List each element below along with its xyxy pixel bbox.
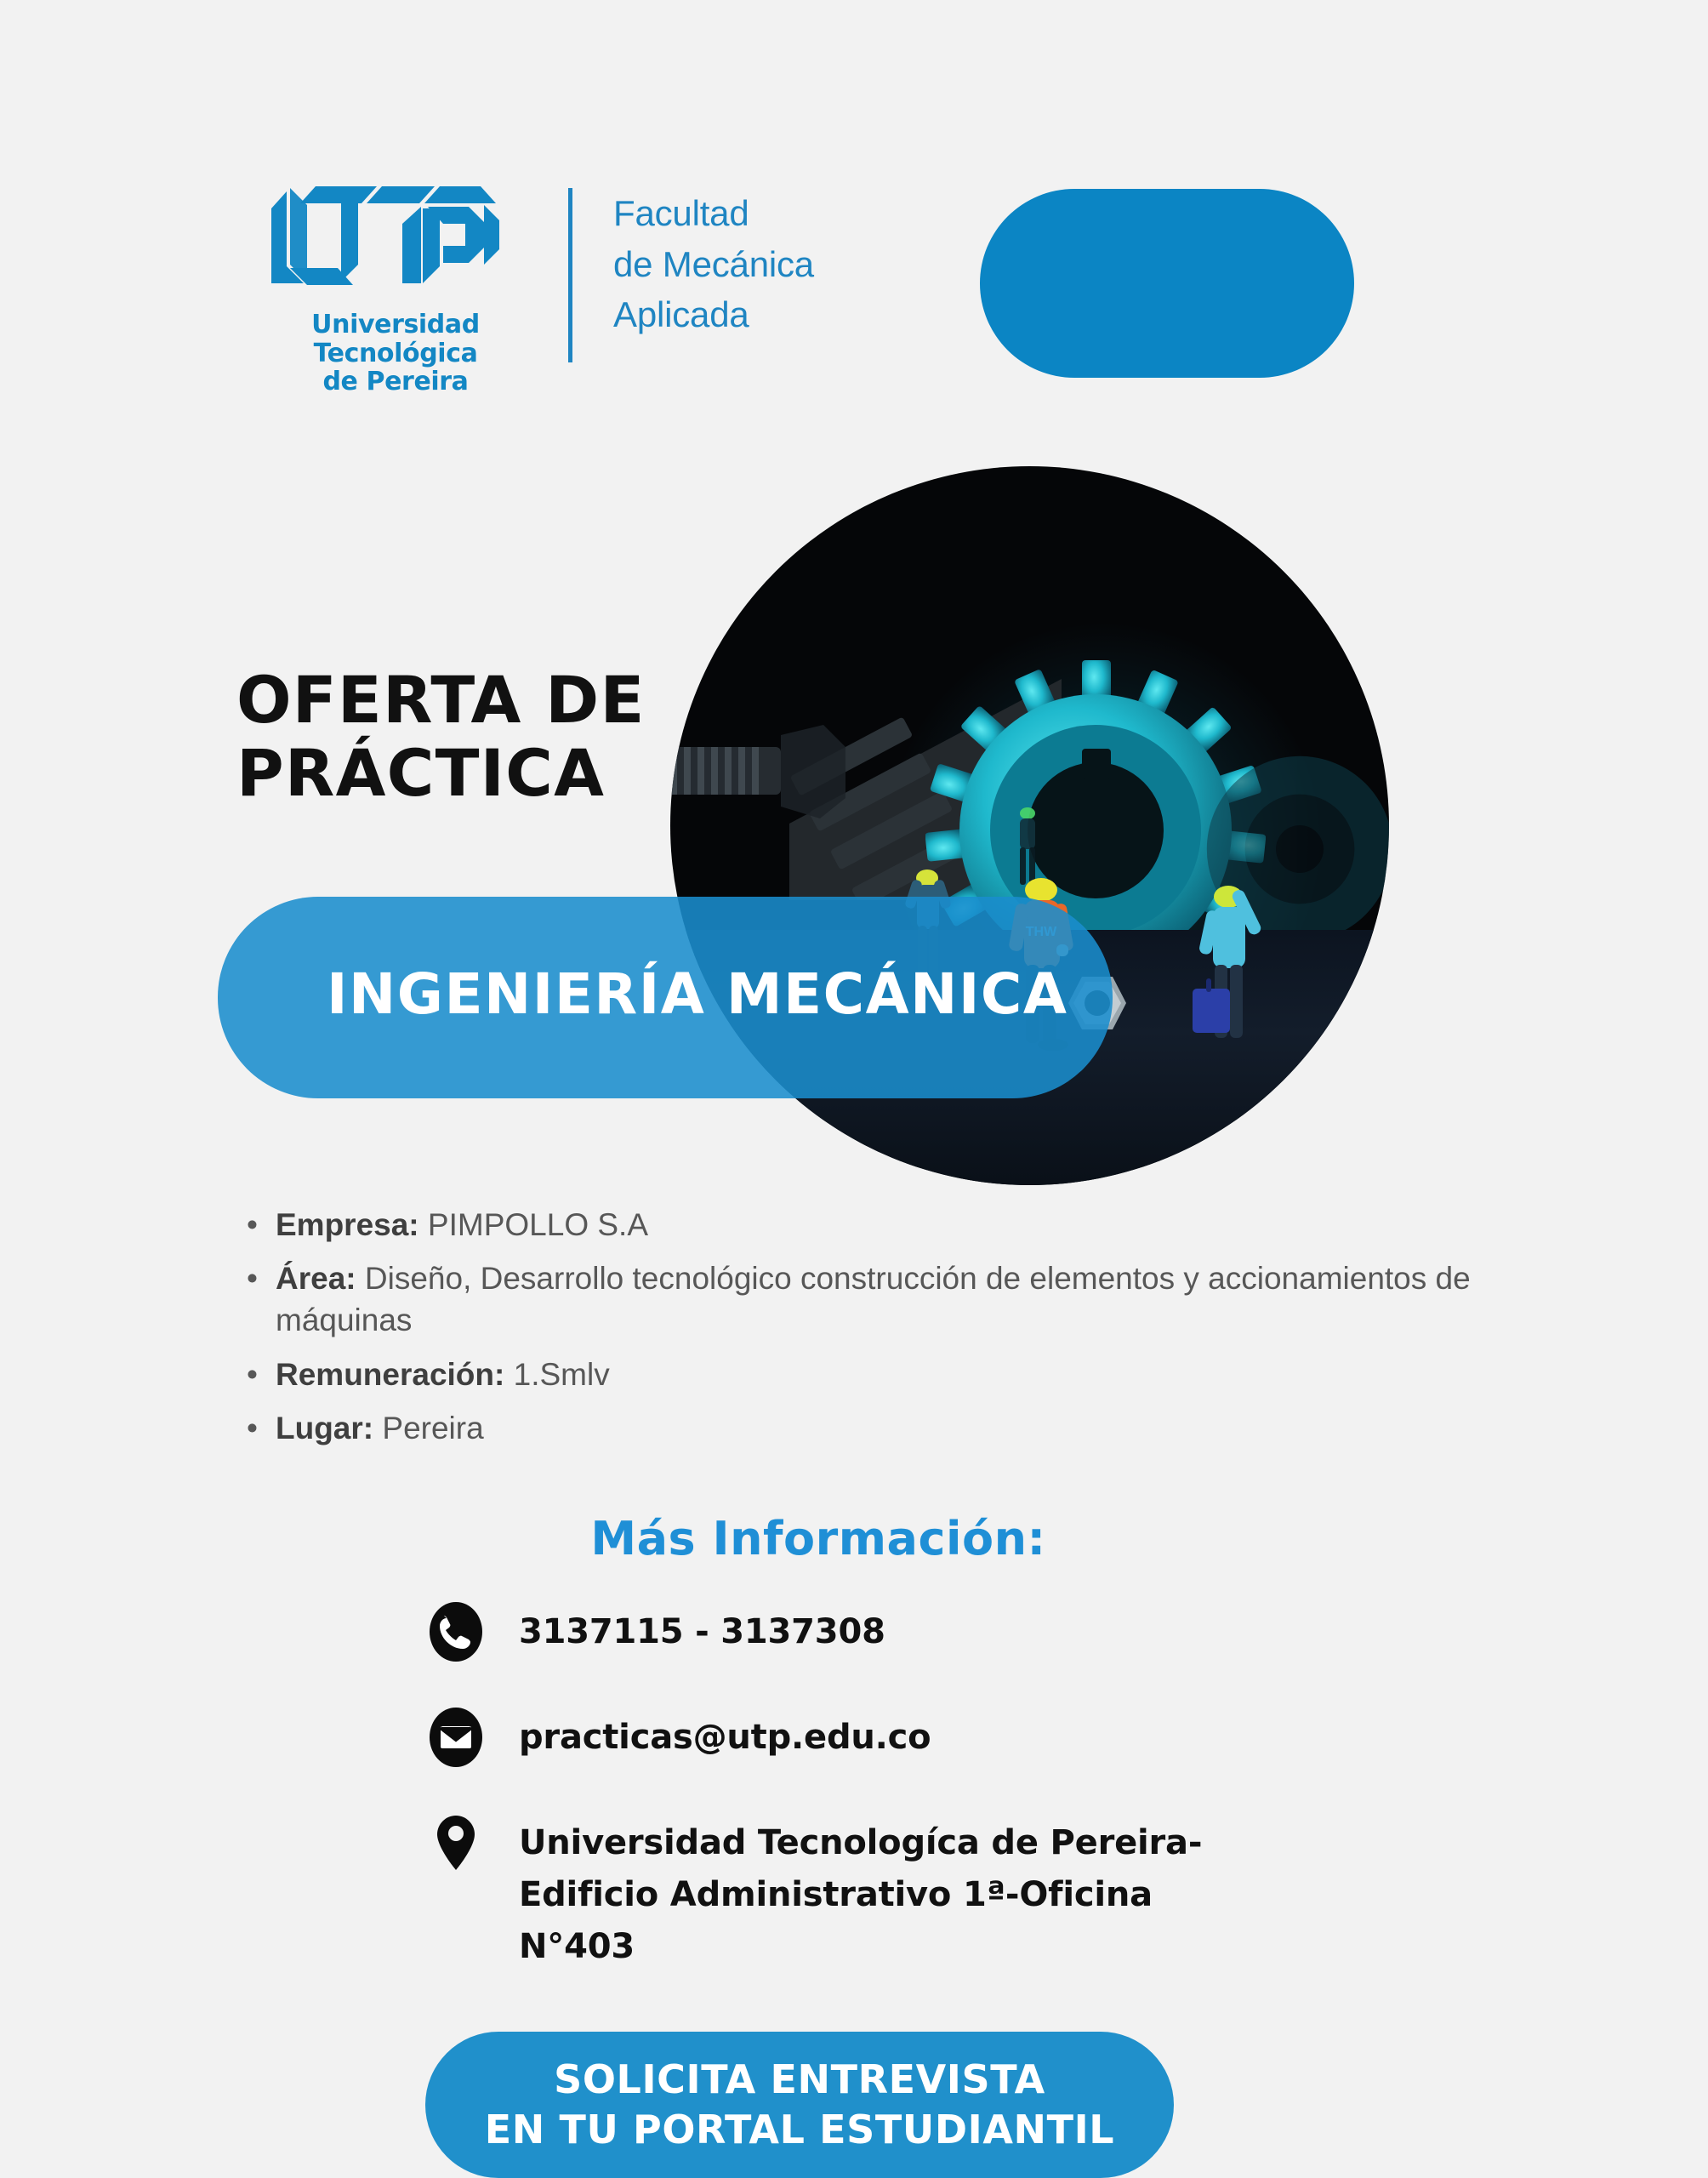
contact-list: 3137115 - 3137308 practicas@utp.edu.co — [425, 1599, 1531, 2015]
more-info-heading: Más Información: — [0, 1512, 1708, 1565]
faculty-line-3: Aplicada — [613, 289, 814, 340]
contact-email-row[interactable]: practicas@utp.edu.co — [425, 1705, 1531, 1768]
contact-address-value: Universidad Tecnologíca de Pereira-Edifi… — [519, 1810, 1225, 1972]
bullet-icon: • — [247, 1407, 276, 1449]
detail-company: Empresa: PIMPOLLO S.A — [276, 1204, 1523, 1246]
detail-area-label: Área: — [276, 1261, 356, 1296]
header-accent-pill — [980, 189, 1354, 378]
offer-details-list: • Empresa: PIMPOLLO S.A • Área: Diseño, … — [247, 1204, 1523, 1461]
phone-icon — [425, 1601, 487, 1662]
detail-salary: Remuneración: 1.Smlv — [276, 1354, 1523, 1395]
contact-phone-row[interactable]: 3137115 - 3137308 — [425, 1599, 1531, 1662]
request-interview-button[interactable]: SOLICITA ENTREVISTA EN TU PORTAL ESTUDIA… — [425, 2032, 1174, 2178]
faculty-name: Facultad de Mecánica Aplicada — [613, 188, 814, 340]
contact-email-value: practicas@utp.edu.co — [519, 1705, 931, 1764]
contact-phone-value: 3137115 - 3137308 — [519, 1599, 885, 1658]
faculty-line-1: Facultad — [613, 188, 814, 239]
faculty-line-2: de Mecánica — [613, 239, 814, 290]
more-info-heading-text: Más Información: — [590, 1512, 1045, 1565]
list-item: • Lugar: Pereira — [247, 1407, 1523, 1449]
poster-canvas: Universidad Tecnológica de Pereira Facul… — [0, 0, 1708, 2178]
program-banner-label: INGENIERÍA MECÁNICA — [327, 961, 1007, 1027]
detail-salary-label: Remuneración: — [276, 1357, 504, 1392]
detail-area-value: Diseño, Desarrollo tecnológico construcc… — [276, 1261, 1471, 1337]
utp-wordmark-line-1: Universidad Tecnológica — [255, 311, 536, 368]
bullet-icon: • — [247, 1354, 276, 1395]
page-title-line-1: OFERTA DE — [236, 664, 646, 737]
header: Universidad Tecnológica de Pereira Facul… — [255, 183, 814, 396]
worker-figure-cyan — [1191, 881, 1264, 1052]
header-divider — [568, 188, 572, 362]
page-title-line-2: PRÁCTICA — [236, 737, 646, 810]
list-item: • Empresa: PIMPOLLO S.A — [247, 1204, 1523, 1246]
location-pin-icon — [425, 1812, 487, 1873]
detail-company-value: PIMPOLLO S.A — [419, 1207, 648, 1242]
utp-wordmark-line-2: de Pereira — [255, 368, 536, 396]
request-interview-label: SOLICITA ENTREVISTA EN TU PORTAL ESTUDIA… — [485, 2055, 1114, 2155]
detail-location-label: Lugar: — [276, 1411, 373, 1445]
detail-location-value: Pereira — [373, 1411, 484, 1445]
list-item: • Área: Diseño, Desarrollo tecnológico c… — [247, 1257, 1523, 1341]
detail-location: Lugar: Pereira — [276, 1407, 1523, 1449]
bullet-icon: • — [247, 1257, 276, 1299]
utp-logo-wordmark: Universidad Tecnológica de Pereira — [255, 311, 536, 396]
list-item: • Remuneración: 1.Smlv — [247, 1354, 1523, 1395]
utp-logo-mark — [268, 183, 523, 302]
email-icon — [425, 1707, 487, 1768]
page-title: OFERTA DE PRÁCTICA — [236, 664, 646, 810]
bullet-icon: • — [247, 1204, 276, 1246]
detail-salary-value: 1.Smlv — [504, 1357, 609, 1392]
cta-line-1: SOLICITA ENTREVISTA — [485, 2055, 1114, 2105]
detail-company-label: Empresa: — [276, 1207, 419, 1242]
utp-logo: Universidad Tecnológica de Pereira — [255, 183, 536, 396]
cta-line-2: EN TU PORTAL ESTUDIANTIL — [485, 2105, 1114, 2155]
detail-area: Área: Diseño, Desarrollo tecnológico con… — [276, 1257, 1523, 1341]
bolt-icon — [670, 713, 849, 832]
contact-address-row: Universidad Tecnologíca de Pereira-Edifi… — [425, 1810, 1531, 1972]
